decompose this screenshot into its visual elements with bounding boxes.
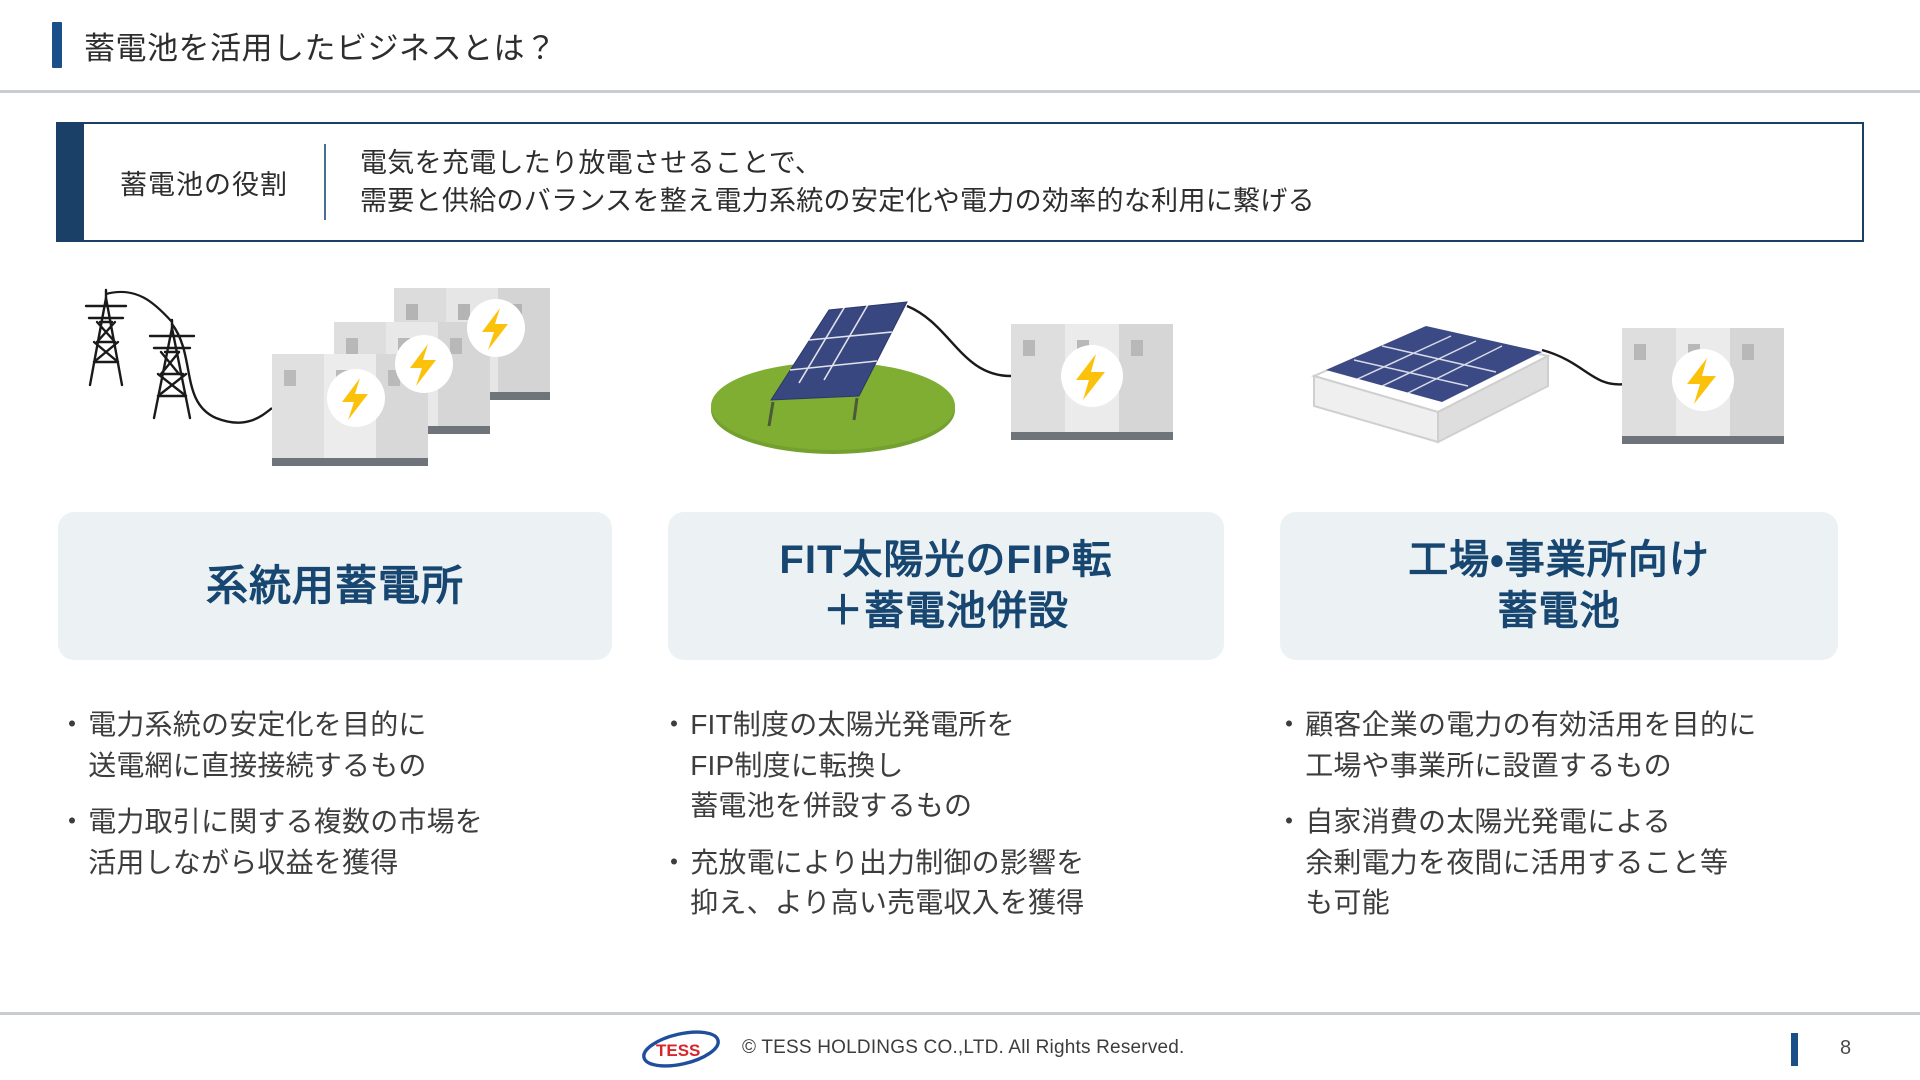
list-item: ・ 自家消費の太陽光発電による 余剰電力を夜間に活用すること等 も可能 [1275, 802, 1865, 924]
lightning-bolt-badge [467, 299, 525, 357]
card-title: 系統用蓄電所 [206, 559, 464, 613]
rooftop-solar-panel-and-battery-icon [1296, 280, 1796, 475]
bullet-line: も可能 [1305, 883, 1865, 924]
bullet-mark: ・ [660, 705, 688, 746]
bullet-mark: ・ [1275, 705, 1303, 746]
bullet-line: 工場や事業所に設置するもの [1305, 746, 1865, 787]
card-factory-business-battery[interactable]: 工場・事業所向け 蓄電池 [1280, 512, 1838, 660]
card-title: FIT太陽光のFIP転 ＋蓄電池併設 [779, 535, 1112, 637]
illustration-row [56, 280, 1866, 475]
power-grid-and-battery-icon [76, 280, 636, 475]
bullet-mark: ・ [58, 802, 86, 843]
card-title-line-1: 系統用蓄電所 [206, 559, 464, 613]
bullet-line: FIT制度の太陽光発電所を [690, 705, 1230, 746]
card-title-line-1: 工場・事業所向け [1408, 535, 1710, 586]
role-box-text-line-2: 需要と供給のバランスを整え電力系統の安定化や電力の効率的な利用に繋げる [360, 182, 1862, 220]
bullet-line: FIP制度に転換し [690, 746, 1230, 787]
bullet-mark: ・ [1275, 802, 1303, 843]
page-number: 8 [1840, 1037, 1851, 1060]
bullet-line: 電力系統の安定化を目的に [88, 705, 618, 746]
page-number-accent-bar [1791, 1033, 1798, 1066]
bullet-column-3: ・ 顧客企業の電力の有効活用を目的に 工場や事業所に設置するもの ・ 自家消費の… [1275, 705, 1865, 940]
list-item: ・ 顧客企業の電力の有効活用を目的に 工場や事業所に設置するもの [1275, 705, 1865, 786]
bullet-line: 顧客企業の電力の有効活用を目的に [1305, 705, 1865, 746]
bullet-column-1: ・ 電力系統の安定化を目的に 送電網に直接接続するもの ・ 電力取引に関する複数… [58, 705, 618, 899]
svg-text:TESS: TESS [656, 1041, 700, 1060]
bullet-mark: ・ [660, 843, 688, 884]
page-title: 蓄電池を活用したビジネスとは？ [84, 23, 557, 68]
role-box-accent-bar [58, 124, 84, 240]
bullet-line: 送電網に直接接続するもの [88, 746, 618, 787]
bullet-text: 充放電により出力制御の影響を 抑え、より高い売電収入を獲得 [690, 843, 1230, 924]
battery-role-box: 蓄電池の役割 電気を充電したり放電させることで、 需要と供給のバランスを整え電力… [56, 122, 1864, 242]
card-row: 系統用蓄電所 FIT太陽光のFIP転 ＋蓄電池併設 工場・事業所向け 蓄電池 [0, 512, 1920, 660]
ground-solar-panel-and-battery-icon [711, 280, 1201, 475]
bullet-line: 蓄電池を併設するもの [690, 786, 1230, 827]
title-accent-bar [52, 22, 62, 68]
list-item: ・ 電力取引に関する複数の市場を 活用しながら収益を獲得 [58, 802, 618, 883]
bullet-line: 余剰電力を夜間に活用すること等 [1305, 843, 1865, 884]
copyright-text: © TESS HOLDINGS CO.,LTD. All Rights Rese… [742, 1037, 1185, 1059]
card-title-line-2: ＋蓄電池併設 [779, 586, 1112, 637]
bullet-text: 電力系統の安定化を目的に 送電網に直接接続するもの [88, 705, 618, 786]
role-box-text: 電気を充電したり放電させることで、 需要と供給のバランスを整え電力系統の安定化や… [326, 124, 1862, 240]
card-fit-solar-fip-transition[interactable]: FIT太陽光のFIP転 ＋蓄電池併設 [668, 512, 1224, 660]
list-item: ・ 充放電により出力制御の影響を 抑え、より高い売電収入を獲得 [660, 843, 1230, 924]
bullet-text: 電力取引に関する複数の市場を 活用しながら収益を獲得 [88, 802, 618, 883]
card-title-line-1: FIT太陽光のFIP転 [779, 535, 1112, 586]
bullet-line: 活用しながら収益を獲得 [88, 843, 618, 884]
card-keitouyou-chikudensho[interactable]: 系統用蓄電所 [58, 512, 612, 660]
slide-footer: TESS © TESS HOLDINGS CO.,LTD. All Rights… [0, 1015, 1920, 1080]
header-divider [0, 90, 1920, 93]
list-item: ・ 電力系統の安定化を目的に 送電網に直接接続するもの [58, 705, 618, 786]
bullet-line: 充放電により出力制御の影響を [690, 843, 1230, 884]
bullet-text: 自家消費の太陽光発電による 余剰電力を夜間に活用すること等 も可能 [1305, 802, 1865, 924]
bullet-text: 顧客企業の電力の有効活用を目的に 工場や事業所に設置するもの [1305, 705, 1865, 786]
card-title: 工場・事業所向け 蓄電池 [1408, 535, 1710, 637]
bullet-line: 自家消費の太陽光発電による [1305, 802, 1865, 843]
role-box-label: 蓄電池の役割 [84, 124, 324, 240]
bullet-mark: ・ [58, 705, 86, 746]
role-box-text-line-1: 電気を充電したり放電させることで、 [360, 144, 1862, 182]
bullet-line: 抑え、より高い売電収入を獲得 [690, 883, 1230, 924]
bullet-line: 電力取引に関する複数の市場を [88, 802, 618, 843]
bullet-column-2: ・ FIT制度の太陽光発電所を FIP制度に転換し 蓄電池を併設するもの ・ 充… [660, 705, 1230, 940]
bullet-text: FIT制度の太陽光発電所を FIP制度に転換し 蓄電池を併設するもの [690, 705, 1230, 827]
slide: 蓄電池を活用したビジネスとは？ 蓄電池の役割 電気を充電したり放電させることで、… [0, 0, 1920, 1080]
card-title-line-2: 蓄電池 [1408, 586, 1710, 637]
lightning-bolt-badge [1061, 345, 1123, 407]
tess-logo-icon: TESS [640, 1029, 722, 1069]
lightning-bolt-badge [1672, 349, 1734, 411]
slide-header: 蓄電池を活用したビジネスとは？ [0, 0, 1920, 90]
list-item: ・ FIT制度の太陽光発電所を FIP制度に転換し 蓄電池を併設するもの [660, 705, 1230, 827]
bullet-columns: ・ 電力系統の安定化を目的に 送電網に直接接続するもの ・ 電力取引に関する複数… [0, 705, 1920, 965]
